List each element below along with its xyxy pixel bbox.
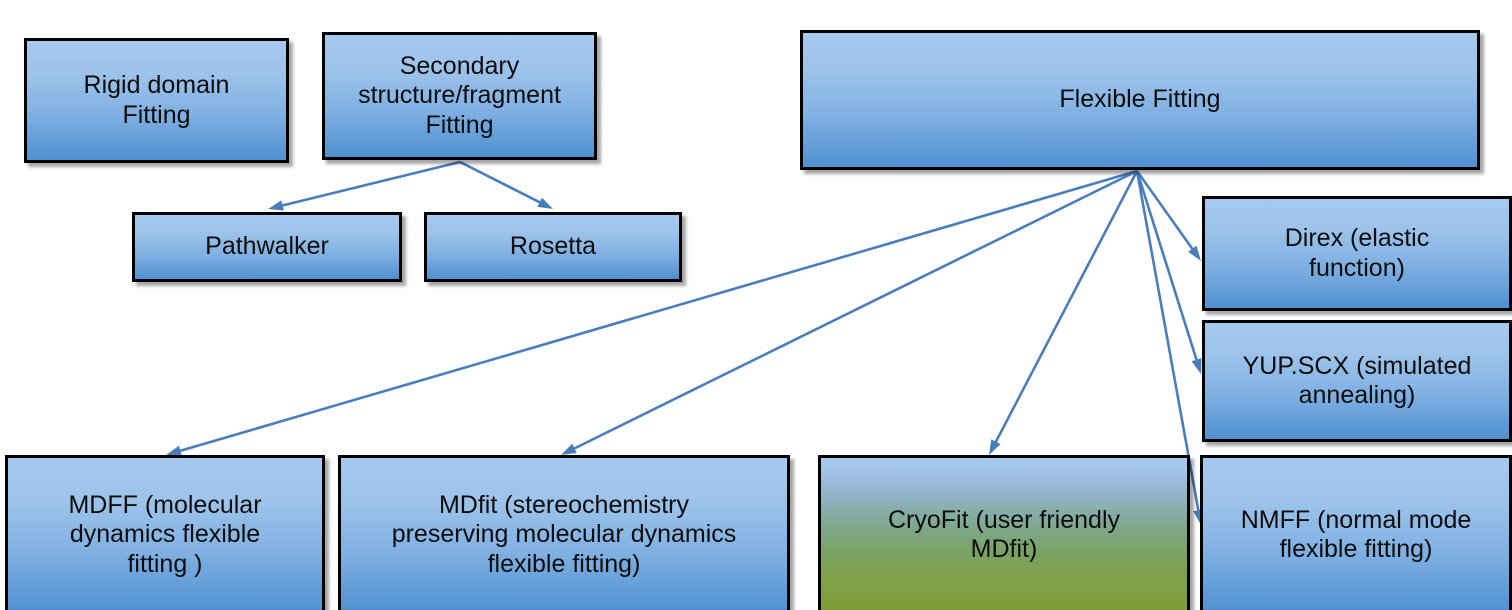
node-rigid-domain-fitting[interactable]: Rigid domain Fitting — [24, 38, 289, 163]
node-mdff[interactable]: MDFF (molecular dynamics flexible fittin… — [5, 455, 325, 610]
node-secondary-structure-fragment-fitting[interactable]: Secondary structure/fragment Fitting — [322, 32, 597, 160]
node-label-yup-scx: YUP.SCX (simulated annealing) — [1235, 352, 1480, 411]
node-direx[interactable]: Direx (elastic function) — [1202, 196, 1512, 311]
node-label-pathwalker: Pathwalker — [197, 232, 337, 262]
node-flexible-fitting[interactable]: Flexible Fitting — [800, 30, 1480, 170]
node-label-mdff: MDFF (molecular dynamics flexible fittin… — [60, 491, 269, 580]
edge-flexible-to-cryofit — [989, 171, 1137, 455]
node-pathwalker[interactable]: Pathwalker — [132, 212, 402, 282]
node-cryofit[interactable]: CryoFit (user friendly MDfit) — [818, 455, 1190, 610]
node-label-cryofit: CryoFit (user friendly MDfit) — [880, 506, 1128, 565]
node-yup-scx[interactable]: YUP.SCX (simulated annealing) — [1202, 320, 1512, 442]
node-rosetta[interactable]: Rosetta — [424, 212, 682, 282]
node-label-rosetta: Rosetta — [502, 232, 604, 262]
diagram-canvas: Rigid domain FittingSecondary structure/… — [0, 0, 1512, 610]
node-label-mdfit: MDfit (stereochemistry preserving molecu… — [384, 491, 745, 580]
edge-secondary-to-rosetta — [460, 162, 553, 209]
node-label-nmff: NMFF (normal mode flexible fitting) — [1233, 506, 1480, 565]
node-label-flexible-fitting: Flexible Fitting — [1051, 85, 1228, 115]
edge-flexible-to-direx — [1137, 171, 1201, 261]
node-label-direx: Direx (elastic function) — [1277, 224, 1437, 283]
node-nmff[interactable]: NMFF (normal mode flexible fitting) — [1200, 455, 1512, 610]
node-mdfit[interactable]: MDfit (stereochemistry preserving molecu… — [338, 455, 790, 610]
edge-secondary-to-pathwalker — [268, 162, 460, 210]
node-label-secondary-structure-fragment-fitting: Secondary structure/fragment Fitting — [350, 52, 569, 141]
node-label-rigid-domain-fitting: Rigid domain Fitting — [76, 71, 238, 130]
